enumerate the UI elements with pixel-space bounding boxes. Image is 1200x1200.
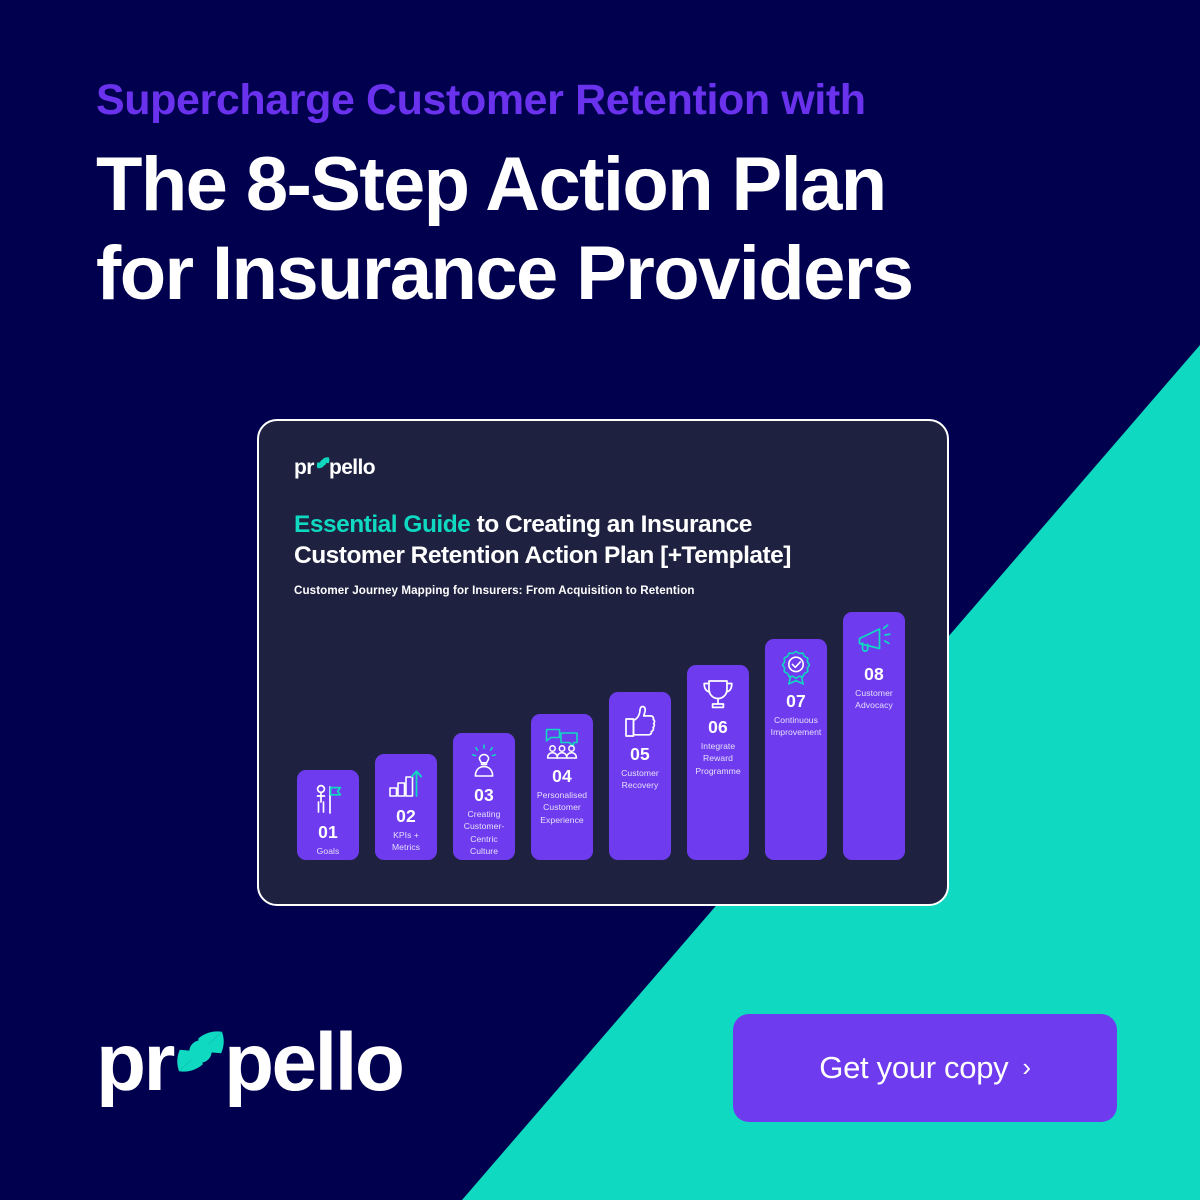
chart-bar-number: 02 — [396, 806, 416, 826]
chart-bar-04: 04 Personalised Customer Experience — [531, 714, 593, 860]
propello-logo-large: pr pello — [96, 1018, 416, 1114]
chart-bar-number: 05 — [630, 744, 650, 764]
chart-bar-label: Creating Customer-Centric Culture — [453, 808, 515, 857]
headline-line-1: The 8-Step Action Plan — [96, 141, 1106, 230]
chart-bar-number: 04 — [552, 766, 572, 786]
speech-bubbles-group-icon — [542, 723, 582, 763]
chart-bar-number: 08 — [864, 664, 884, 684]
ebook-preview-card[interactable]: pr pello Essential Guide to Creating an … — [257, 419, 949, 906]
chart-bar-08: 08 Customer Advocacy — [843, 612, 905, 860]
ad-creative-canvas: Supercharge Customer Retention with The … — [0, 0, 1200, 1200]
svg-text:pr: pr — [96, 1018, 174, 1108]
bar-chart-arrow-up-icon — [386, 763, 426, 803]
chart-bar-06: 06 Integrate Reward Programme — [687, 665, 749, 860]
headline-line-2: for Insurance Providers — [96, 230, 1106, 319]
chart-bar-label: Personalised Customer Experience — [531, 789, 593, 826]
svg-text:pello: pello — [224, 1018, 402, 1108]
propeller-mark-large-icon — [177, 1031, 223, 1071]
chart-bar-number: 06 — [708, 717, 728, 737]
chart-bar-label: Customer Advocacy — [843, 687, 905, 711]
cta-label: Get your copy — [819, 1050, 1008, 1086]
propello-wordmark-large-icon: pr pello — [96, 1018, 416, 1114]
chart-bar-05: 05 Customer Recovery — [609, 692, 671, 860]
chart-bar-02: 02 KPIs + Metrics — [375, 754, 437, 860]
chart-bar-label: Customer Recovery — [609, 767, 671, 791]
chart-bar-number: 01 — [318, 822, 338, 842]
eight-step-bar-chart: 01 Goals 02 KPIs + Metrics — [297, 421, 913, 906]
get-your-copy-button[interactable]: Get your copy › — [733, 1014, 1117, 1122]
chart-bar-number: 03 — [474, 785, 494, 805]
chart-bar-number: 07 — [786, 691, 806, 711]
chevron-right-icon: › — [1022, 1054, 1030, 1080]
hero-text-block: Supercharge Customer Retention with The … — [96, 78, 1106, 319]
award-check-badge-icon — [776, 648, 816, 688]
chart-bar-label: Continuous Improvement — [765, 714, 827, 738]
chart-bar-label: KPIs + Metrics — [375, 829, 437, 853]
person-idea-bulb-icon — [464, 742, 504, 782]
page-title: The 8-Step Action Plan for Insurance Pro… — [96, 141, 1106, 319]
megaphone-icon — [854, 621, 894, 661]
person-with-flag-icon — [308, 779, 348, 819]
chart-bar-07: 07 Continuous Improvement — [765, 639, 827, 860]
hero-eyebrow: Supercharge Customer Retention with — [96, 78, 1106, 123]
trophy-icon — [698, 674, 738, 714]
chart-bar-label: Integrate Reward Programme — [687, 740, 749, 777]
thumbs-up-icon — [620, 701, 660, 741]
chart-bar-label: Goals — [314, 845, 343, 857]
chart-bar-01: 01 Goals — [297, 770, 359, 860]
chart-bar-03: 03 Creating Customer-Centric Culture — [453, 733, 515, 860]
